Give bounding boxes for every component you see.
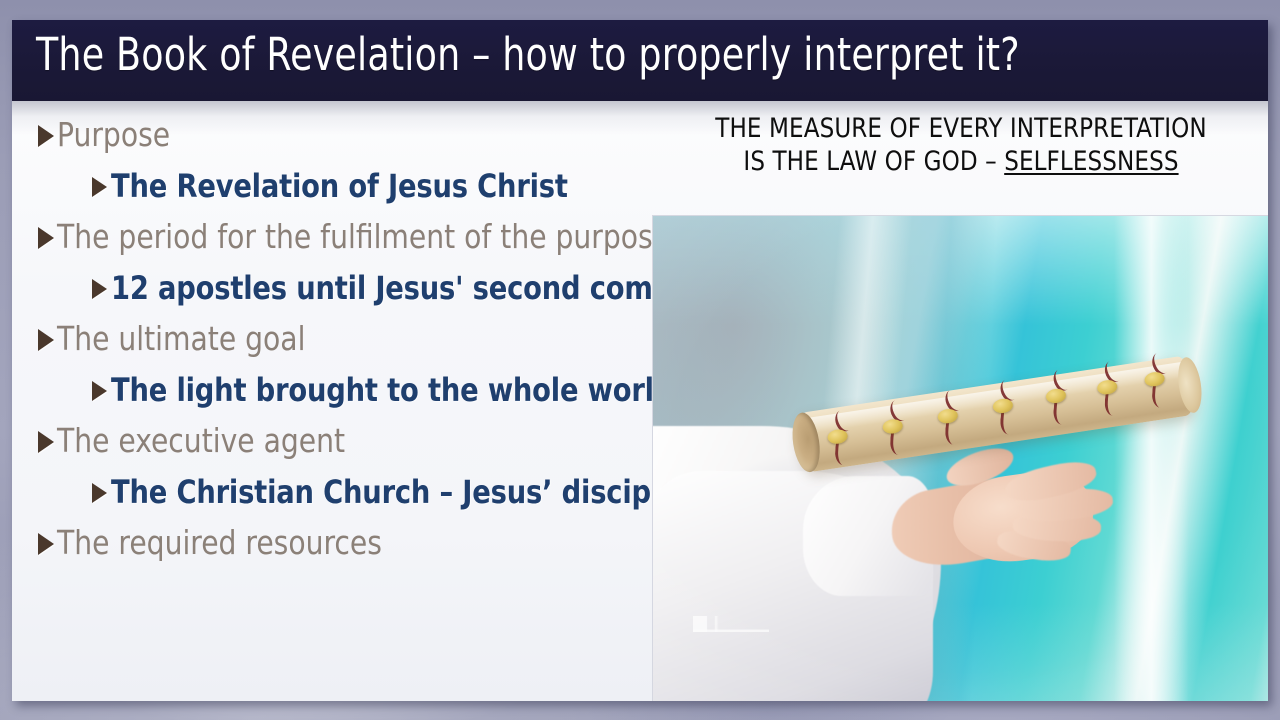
caption-block: THE MEASURE OF EVERY INTERPRETATION IS T… bbox=[657, 112, 1265, 178]
bullet-item-level1: Purpose bbox=[38, 112, 638, 162]
right-column: THE MEASURE OF EVERY INTERPRETATION IS T… bbox=[641, 112, 1268, 178]
caption-line-2-prefix: IS THE LAW OF GOD – bbox=[743, 146, 1004, 177]
bullet-label: 12 apostles until Jesus' second coming bbox=[111, 265, 701, 311]
caption-line-1: THE MEASURE OF EVERY INTERPRETATION bbox=[657, 112, 1265, 145]
bullet-label: The executive agent bbox=[57, 418, 345, 464]
bullet-item-level1: The executive agent bbox=[38, 418, 638, 468]
triangle-right-icon bbox=[38, 431, 54, 453]
artwork-frame bbox=[653, 216, 1268, 701]
slide-title-bar: The Book of Revelation – how to properly… bbox=[12, 20, 1268, 101]
bullet-item-level1: The ultimate goal bbox=[38, 316, 638, 366]
bullet-item-level1: The required resources bbox=[38, 520, 638, 570]
bullet-label: Purpose bbox=[57, 112, 170, 158]
caption-keyword-selflessness: SELFLESSNESS bbox=[1004, 146, 1178, 177]
bullet-label: The period for the fulfilment of the pur… bbox=[57, 214, 670, 260]
artwork-scroll-in-hand bbox=[653, 216, 1268, 701]
triangle-right-icon bbox=[38, 227, 54, 249]
bullet-item-level2: The Christian Church – Jesus’ disciples bbox=[92, 469, 638, 520]
bullet-label: The ultimate goal bbox=[57, 316, 305, 362]
triangle-right-icon bbox=[92, 483, 107, 503]
bullet-item-level2: The light brought to the whole world bbox=[92, 367, 638, 418]
bullet-list: Purpose The Revelation of Jesus Christ T… bbox=[38, 112, 638, 571]
bullet-label: The Revelation of Jesus Christ bbox=[111, 163, 568, 209]
triangle-right-icon bbox=[92, 381, 107, 401]
presentation-slide: The Book of Revelation – how to properly… bbox=[12, 20, 1268, 701]
triangle-right-icon bbox=[38, 533, 54, 555]
caption-line-2: IS THE LAW OF GOD – SELFLESSNESS bbox=[657, 145, 1265, 178]
slide-title: The Book of Revelation – how to properly… bbox=[36, 28, 1020, 81]
artwork-vignette bbox=[653, 216, 1268, 701]
triangle-right-icon bbox=[38, 329, 54, 351]
bullet-label: The required resources bbox=[57, 520, 382, 566]
bullet-item-level2: The Revelation of Jesus Christ bbox=[92, 163, 638, 214]
triangle-right-icon bbox=[38, 125, 54, 147]
bullet-item-level2: 12 apostles until Jesus' second coming bbox=[92, 265, 638, 316]
bullet-label: The light brought to the whole world bbox=[111, 367, 673, 413]
triangle-right-icon bbox=[92, 279, 107, 299]
bullet-label: The Christian Church – Jesus’ disciples bbox=[111, 469, 695, 515]
triangle-right-icon bbox=[92, 177, 107, 197]
bullet-item-level1: The period for the fulfilment of the pur… bbox=[38, 214, 638, 264]
